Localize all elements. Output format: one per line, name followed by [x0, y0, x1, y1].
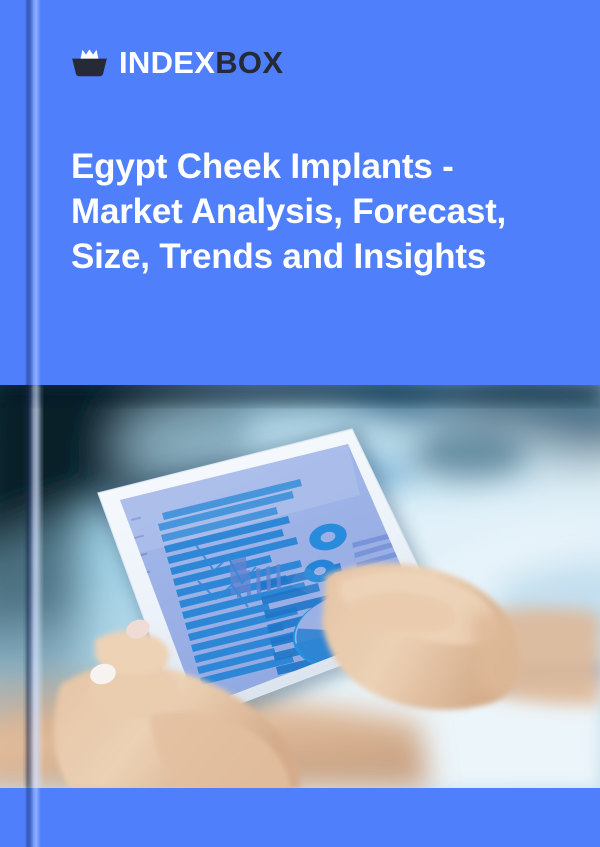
- indexbox-wordmark: INDEXBOX: [119, 47, 283, 78]
- report-title: Egypt Cheek Implants - Market Analysis, …: [71, 144, 571, 279]
- cover-footer: [0, 788, 600, 847]
- cover-header: INDEXBOX Egypt Cheek Implants - Market A…: [0, 0, 600, 385]
- photo-scene: [0, 385, 600, 788]
- hero-photo-illustration: [0, 385, 600, 788]
- indexbox-basket-crown-icon: [71, 49, 108, 77]
- hero-photo: [0, 385, 600, 788]
- indexbox-logo[interactable]: INDEXBOX: [71, 47, 283, 78]
- wordmark-index: INDEX: [119, 45, 215, 80]
- wordmark-box: BOX: [215, 45, 283, 80]
- report-cover-page: INDEXBOX Egypt Cheek Implants - Market A…: [0, 0, 600, 847]
